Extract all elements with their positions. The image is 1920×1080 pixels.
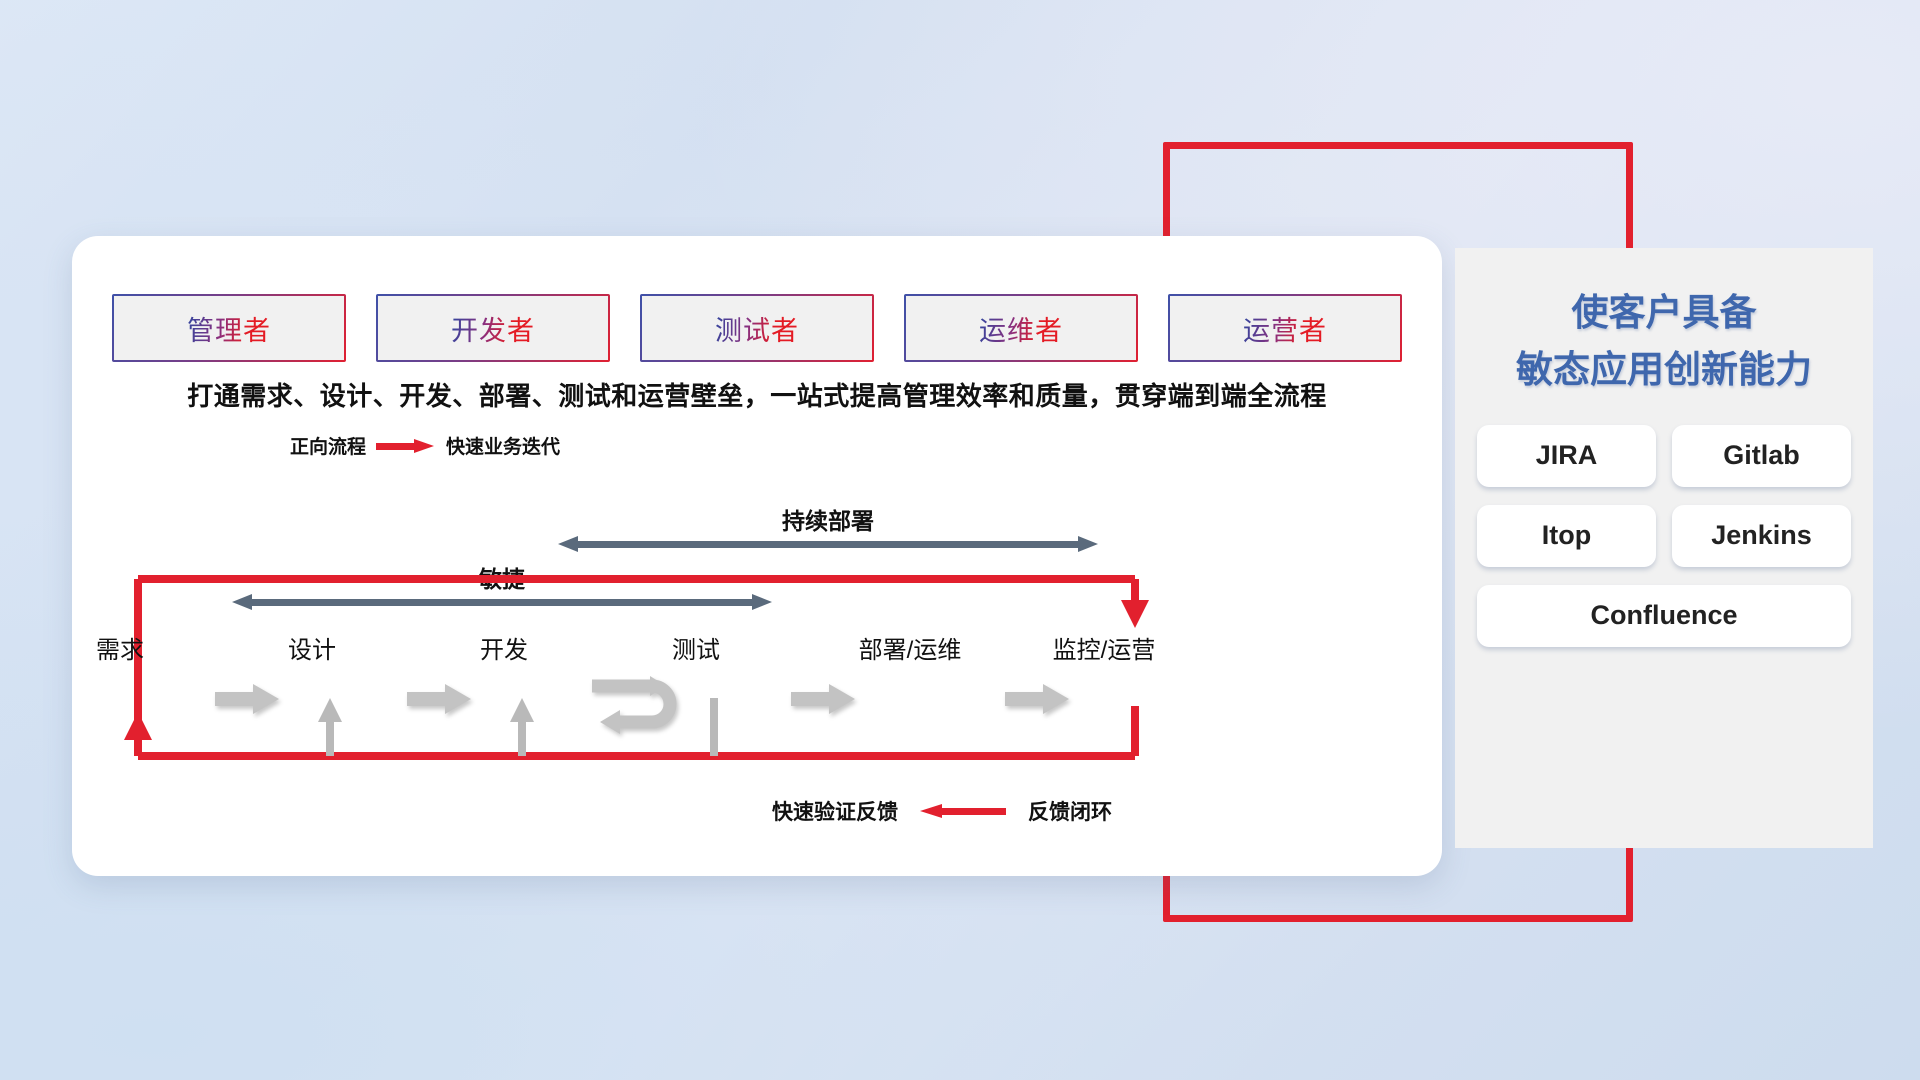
role-box-business-operator[interactable]: 运营者 [1168,294,1402,362]
role-box-manager[interactable]: 管理者 [112,294,346,362]
pipeline-node-label: 监控/运营 [1053,630,1156,665]
tagline-text: 打通需求、设计、开发、部署、测试和运营壁垒，一站式提高管理效率和质量，贯穿端到端… [72,376,1442,413]
chevron-right-icon [1005,684,1069,714]
chevron-right-icon [791,684,855,714]
arrow-head-right-icon [752,594,772,610]
feedback-label-right: 反馈闭环 [1028,796,1112,826]
agile-label: 敏捷 [232,560,772,594]
red-right-arrow-icon [376,439,436,453]
chevron-right-icon [215,684,279,714]
role-box-tester[interactable]: 测试者 [640,294,874,362]
tool-chip-itop[interactable]: Itop [1477,505,1656,567]
forward-flow-legend: 正向流程 快速业务迭代 [290,432,560,459]
continuous-deployment-arrow: 持续部署 [558,536,1098,552]
arrow-shaft [248,599,756,606]
forward-flow-label-left: 正向流程 [290,432,366,459]
tool-chip-gitlab[interactable]: Gitlab [1672,425,1851,487]
pipeline-node-label: 部署/运维 [859,630,962,665]
role-box-inner: 测试者 [642,296,872,360]
arrow-shaft [574,541,1082,548]
feedback-loop-legend: 快速验证反馈 反馈闭环 [772,796,1112,826]
role-box-inner: 运维者 [906,296,1136,360]
role-label: 运营者 [1243,309,1327,348]
tool-chip-confluence[interactable]: Confluence [1477,585,1851,647]
forward-flow-label-right: 快速业务迭代 [446,432,560,459]
role-box-operations[interactable]: 运维者 [904,294,1138,362]
chevron-right-icon [407,684,471,714]
arrow-head-right-icon [1078,536,1098,552]
role-box-row: 管理者 开发者 测试者 运维者 运营者 [112,294,1402,362]
red-left-arrow-icon [920,804,1006,818]
panel-title-line-2: 敏态应用创新能力 [1455,341,1873,398]
role-label: 管理者 [187,309,271,348]
feedback-label-left: 快速验证反馈 [772,796,898,826]
tool-chip-jira[interactable]: JIRA [1477,425,1656,487]
role-label: 开发者 [451,309,535,348]
tool-chip-jenkins[interactable]: Jenkins [1672,505,1851,567]
agile-arrow: 敏捷 [232,594,772,610]
role-box-inner: 运营者 [1170,296,1400,360]
pipeline-row: 需求 设计 开发 [120,628,1410,748]
value-proposition-panel: 使客户具备 敏态应用创新能力 JIRA Gitlab Itop Jenkins … [1455,248,1873,848]
panel-title-line-1: 使客户具备 [1455,284,1873,341]
pipeline-node-label: 需求 [96,630,144,665]
slide-canvas: 管理者 开发者 测试者 运维者 运营者 [0,0,1920,1080]
pipeline-node-label: 测试 [672,630,720,665]
pipeline-node-label: 设计 [288,630,336,665]
role-box-inner: 管理者 [114,296,344,360]
panel-title: 使客户具备 敏态应用创新能力 [1455,284,1873,399]
role-label: 运维者 [979,309,1063,348]
pipeline-node-label: 开发 [480,630,528,665]
devops-flow-card: 管理者 开发者 测试者 运维者 运营者 [72,236,1442,876]
role-box-developer[interactable]: 开发者 [376,294,610,362]
role-label: 测试者 [715,309,799,348]
continuous-deployment-label: 持续部署 [558,502,1098,536]
loop-back-arrow-icon [590,674,678,732]
role-box-inner: 开发者 [378,296,608,360]
tool-chip-grid: JIRA Gitlab Itop Jenkins Confluence [1477,425,1851,647]
